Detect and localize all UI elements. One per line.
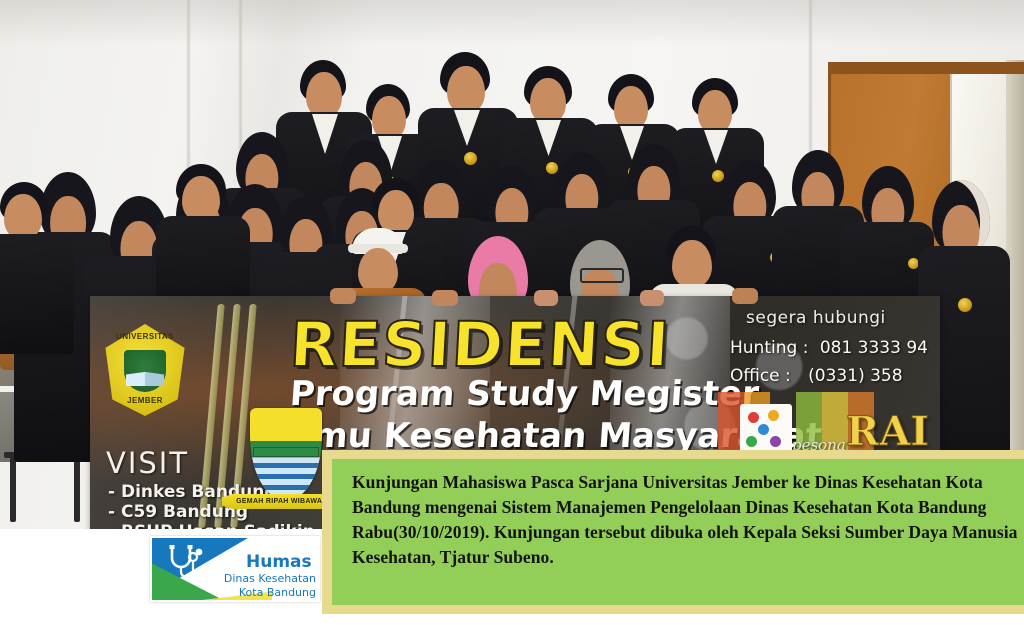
emblem-wall	[254, 448, 317, 456]
crest-top-text: UNIVERSITAS	[102, 332, 188, 341]
office-value: (0331) 358	[808, 366, 902, 386]
hand	[534, 290, 558, 306]
contact-heading: segera hubungi	[746, 308, 886, 328]
hand	[640, 290, 664, 306]
hunting-value: 081 3333 94	[820, 338, 928, 358]
color-dots-logo-icon	[740, 404, 792, 456]
hand	[330, 288, 356, 304]
bandung-city-emblem-icon	[250, 408, 322, 500]
chair-leg	[10, 452, 16, 522]
caption-text: Kunjungan Mahasiswa Pasca Sarjana Univer…	[352, 470, 1020, 570]
crest-bottom-text: JEMBER	[102, 396, 188, 405]
humas-dinkes-logo: Humas Dinas Kesehatan Kota Bandung	[150, 536, 320, 602]
office-label: Office :	[730, 366, 791, 386]
humas-title: Humas	[246, 552, 312, 572]
brand-main-text: RAI	[846, 408, 929, 455]
emblem-wave	[250, 474, 322, 479]
emblem-wave	[250, 485, 322, 490]
hand	[432, 290, 458, 306]
visit-heading: VISIT	[106, 446, 189, 480]
humas-line-2: Dinas Kesehatan	[212, 572, 316, 585]
hunting-label: Hunting :	[730, 338, 808, 358]
crest-book-icon	[126, 372, 164, 386]
stethoscope-icon	[166, 544, 210, 580]
hand	[732, 288, 758, 304]
humas-line-3: Kota Bandung	[212, 586, 316, 599]
banner-title: RESIDENSI	[288, 308, 672, 381]
banner-subtitle-1: Program Study Megister	[289, 374, 761, 414]
screenshot-root: UNIVERSITAS JEMBER RESIDENSI Program Stu…	[0, 0, 1024, 639]
door-header	[828, 62, 1024, 74]
emblem-wave	[250, 463, 322, 468]
chair-leg	[74, 452, 80, 522]
eyeglasses-icon	[580, 268, 624, 283]
ceiling-shadow	[0, 0, 1024, 46]
